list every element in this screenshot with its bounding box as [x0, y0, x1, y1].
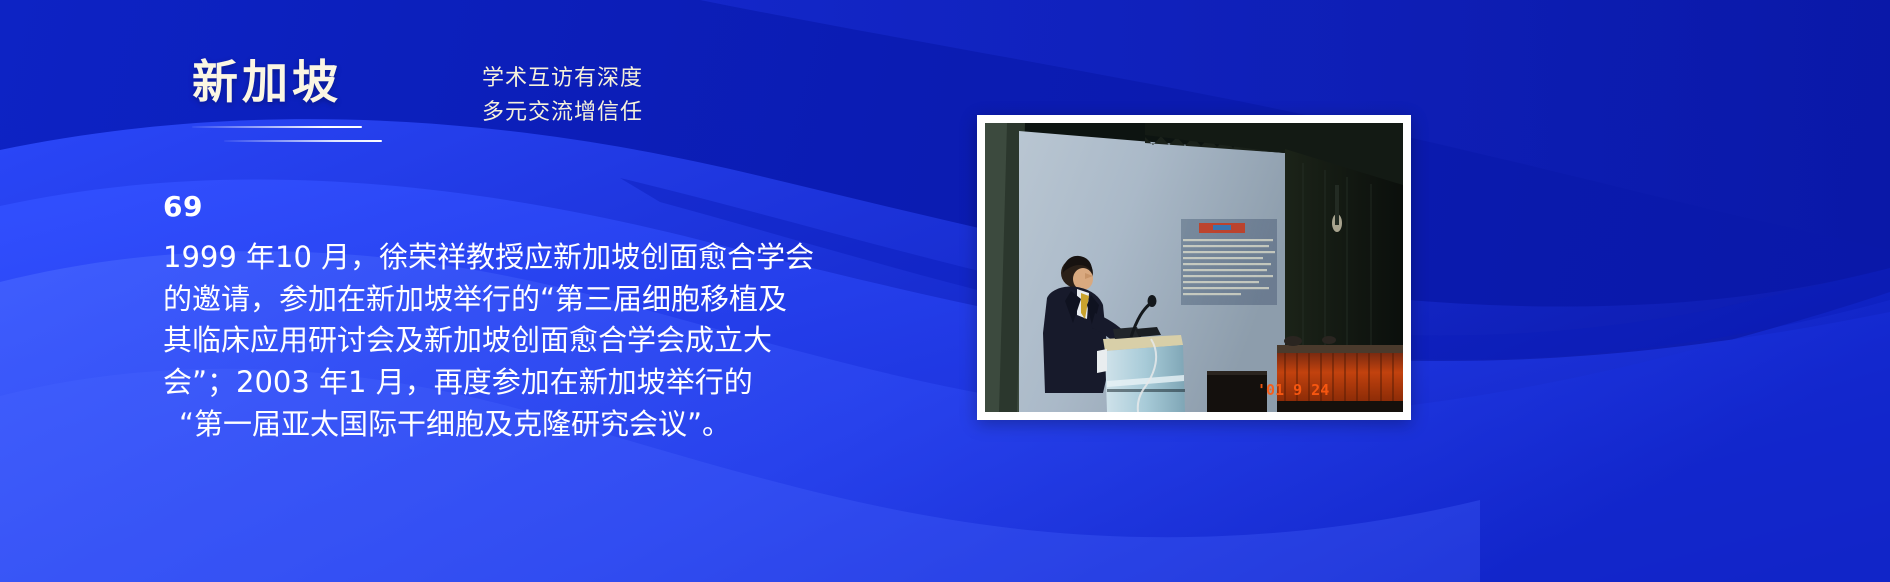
svg-text:'01 9 24: '01 9 24	[1257, 381, 1329, 399]
body-line-3: 其临床应用研讨会及新加坡创面愈合学会成立大	[163, 320, 883, 362]
body-line-2: 的邀请，参加在新加坡举行的“第三届细胞移植及	[163, 279, 883, 321]
title-block: 新加坡	[192, 58, 522, 106]
conference-photo: '01 9 24	[985, 123, 1403, 412]
title-rule-upper	[192, 126, 362, 128]
photo-date-stamp: '01 9 24	[1257, 381, 1329, 399]
body-line-5: “第一届亚太国际干细胞及克隆研究会议”。	[163, 404, 883, 446]
title-rule-lower	[224, 140, 382, 142]
subtitle-block: 学术互访有深度 多元交流增信任	[482, 62, 643, 130]
page-title: 新加坡	[192, 58, 522, 106]
subtitle-line-1: 学术互访有深度	[482, 62, 643, 96]
title-underline-decoration	[192, 126, 482, 152]
item-number: 69	[163, 192, 883, 223]
body-paragraph: 1999 年10 月，徐荣祥教授应新加坡创面愈合学会 的邀请，参加在新加坡举行的…	[163, 237, 883, 446]
body-block: 69 1999 年10 月，徐荣祥教授应新加坡创面愈合学会 的邀请，参加在新加坡…	[163, 192, 883, 446]
subtitle-line-2: 多元交流增信任	[482, 96, 643, 130]
body-line-1: 1999 年10 月，徐荣祥教授应新加坡创面愈合学会	[163, 237, 883, 279]
slide-root: 新加坡 学术互访有深度 多元交流增信任 69 1999 年10 月，徐荣祥教授应…	[0, 0, 1890, 582]
body-line-4: 会”；2003 年1 月，再度参加在新加坡举行的	[163, 362, 883, 404]
photo-frame: '01 9 24	[977, 115, 1411, 420]
conference-photo-artwork: '01 9 24	[985, 123, 1403, 412]
